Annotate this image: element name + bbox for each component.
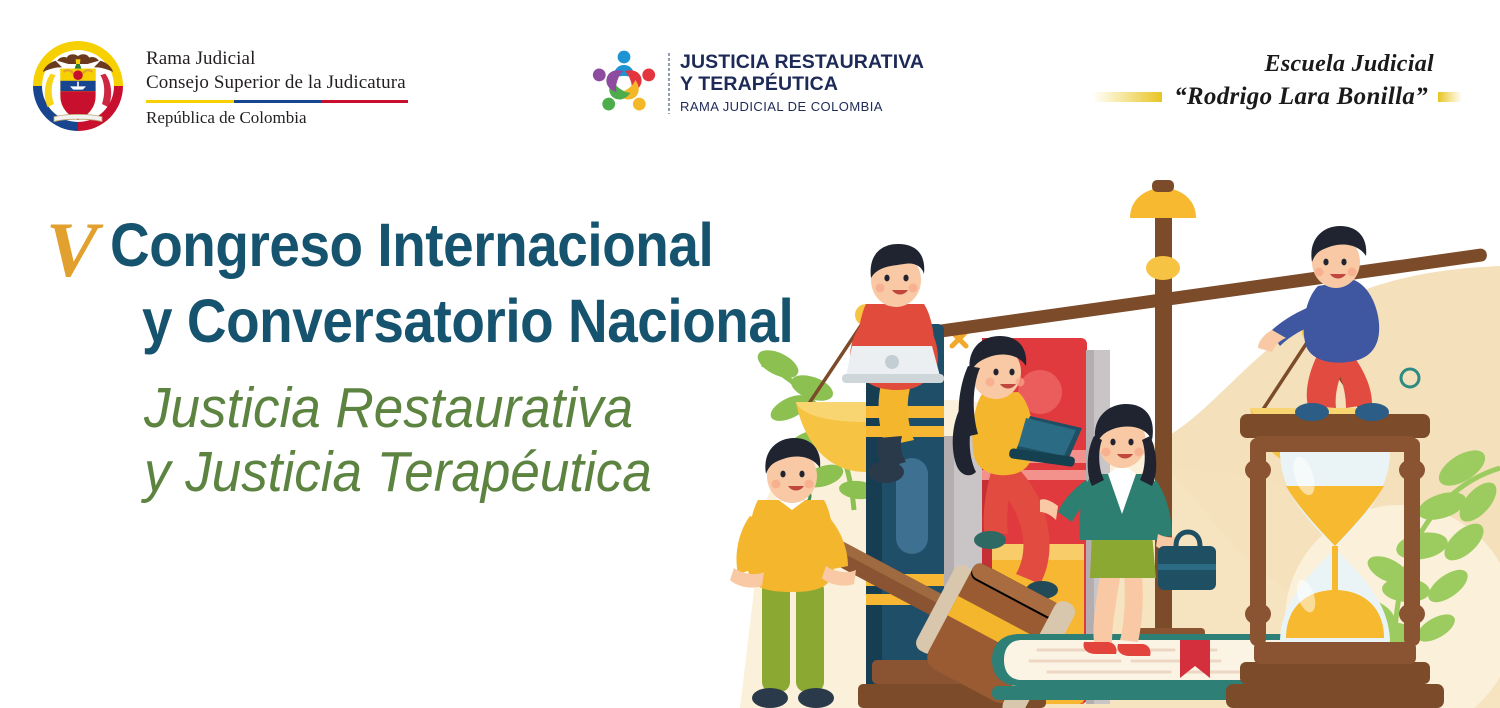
roman-numeral: V bbox=[46, 214, 96, 286]
jr-subtitle: RAMA JUDICIAL DE COLOMBIA bbox=[680, 98, 924, 116]
dotted-divider bbox=[668, 52, 670, 114]
five-people-circle-icon bbox=[588, 48, 660, 118]
colombia-coat-of-arms-icon bbox=[28, 36, 128, 136]
tricolor-rule bbox=[146, 100, 408, 103]
poster-canvas: Rama Judicial Consejo Superior de la Jud… bbox=[0, 0, 1500, 708]
rama-judicial-line1: Rama Judicial bbox=[146, 47, 408, 72]
escuela-judicial-line1: Escuela Judicial bbox=[1092, 50, 1462, 79]
page-title-line1: Congreso Internacional bbox=[110, 214, 713, 277]
gold-bar-left bbox=[1092, 92, 1162, 102]
page-subtitle-line2: y Justicia Terapéutica bbox=[144, 441, 815, 505]
jr-title-line1: JUSTICIA RESTAURATIVA bbox=[680, 51, 924, 74]
rama-judicial-line2: Consejo Superior de la Judicatura bbox=[146, 71, 408, 96]
scale-column bbox=[1155, 212, 1172, 682]
hourglass-icon bbox=[1226, 414, 1444, 708]
poster-header: Rama Judicial Consejo Superior de la Jud… bbox=[0, 0, 1500, 160]
rama-judicial-line3: República de Colombia bbox=[146, 107, 408, 129]
rama-judicial-logo: Rama Judicial Consejo Superior de la Jud… bbox=[28, 36, 408, 136]
jr-title-line2: Y TERAPÉUTICA bbox=[680, 73, 924, 96]
gold-bar-right bbox=[1438, 92, 1462, 102]
escuela-judicial-logo: Escuela Judicial “Rodrigo Lara Bonilla” bbox=[1092, 50, 1462, 112]
hero-title-block: V Congreso Internacional y Conversatorio… bbox=[46, 214, 866, 505]
justicia-restaurativa-logo: JUSTICIA RESTAURATIVA Y TERAPÉUTICA RAMA… bbox=[588, 48, 924, 118]
page-title-line2: y Conversatorio Nacional bbox=[142, 290, 793, 353]
escuela-judicial-line2: “Rodrigo Lara Bonilla” bbox=[1174, 82, 1428, 112]
page-subtitle-line1: Justicia Restaurativa bbox=[144, 377, 815, 441]
